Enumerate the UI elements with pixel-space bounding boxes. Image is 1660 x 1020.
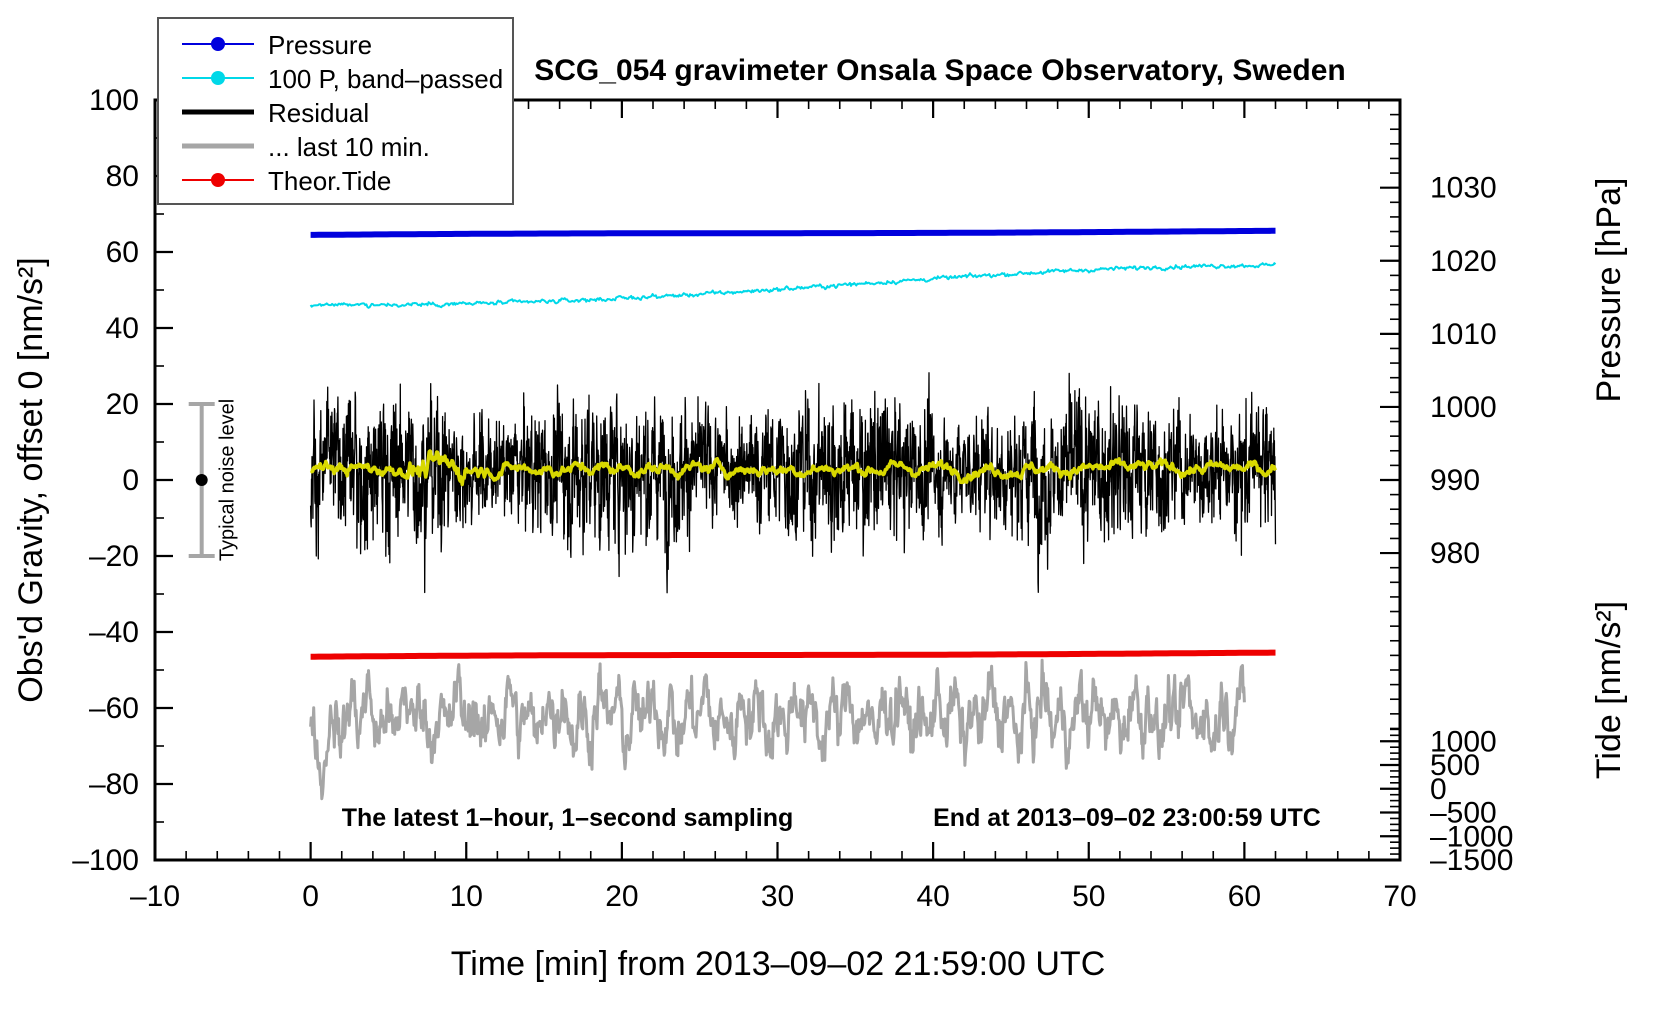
chart-page: –10010203040506070 100806040200–20–40–60… (0, 0, 1660, 1020)
pressure-tick-label: 980 (1430, 537, 1480, 570)
tide-tick-label: –1500 (1430, 844, 1513, 877)
end-time-note: End at 2013–09–02 23:00:59 UTC (933, 804, 1321, 832)
x-tick-label: 60 (1228, 880, 1261, 913)
gravimeter-chart: –10010203040506070 100806040200–20–40–60… (0, 0, 1660, 1020)
legend-label-pressure[interactable]: Pressure (268, 30, 372, 60)
pressure-tick-label: 990 (1430, 464, 1480, 497)
x-tick-label: 70 (1383, 880, 1416, 913)
pressure-tick-label: 1000 (1430, 391, 1497, 424)
pressure-tick-label: 1020 (1430, 245, 1497, 278)
x-tick-label: 50 (1072, 880, 1105, 913)
x-tick-label: –10 (130, 880, 180, 913)
y-tick-label-left: –20 (89, 540, 139, 573)
legend-label-residual[interactable]: Residual (268, 98, 369, 128)
legend-label-100-p-band-passed[interactable]: 100 P, band–passed (268, 64, 503, 94)
y-tick-label-left: 40 (106, 312, 139, 345)
y-tick-label-left: –100 (72, 844, 139, 877)
y-tick-label-left: 20 (106, 388, 139, 421)
x-tick-label: 30 (761, 880, 794, 913)
legend-label-last-10-min[interactable]: ... last 10 min. (268, 132, 430, 162)
y-axis-title-tide: Tide [nm/s²] (1590, 601, 1628, 779)
legend-marker-100-p-band-passed (211, 71, 225, 85)
pressure-tick-label: 1030 (1430, 172, 1497, 205)
chart-legend[interactable]: Pressure100 P, band–passedResidual... la… (158, 18, 513, 204)
legend-marker-pressure (211, 37, 225, 51)
x-tick-label: 10 (450, 880, 483, 913)
y-tick-label-left: –60 (89, 692, 139, 725)
x-tick-label: 40 (916, 880, 949, 913)
series-pressure (311, 231, 1276, 235)
y-tick-label-left: 60 (106, 236, 139, 269)
x-tick-label: 0 (302, 880, 319, 913)
y-axis-title-left: Obs'd Gravity, offset 0 [nm/s²] (12, 257, 50, 703)
x-tick-label: 20 (605, 880, 638, 913)
series-theor-tide (311, 653, 1276, 657)
legend-marker-theor-tide (211, 173, 225, 187)
y-tick-label-left: –40 (89, 616, 139, 649)
chart-title: SCG_054 gravimeter Onsala Space Observat… (534, 54, 1346, 87)
noise-level-label: Typical noise level (217, 399, 239, 561)
noise-bar-center-dot (196, 474, 208, 486)
y-tick-label-left: 0 (122, 464, 139, 497)
y-tick-label-left: –80 (89, 768, 139, 801)
sampling-note: The latest 1–hour, 1–second sampling (342, 804, 794, 832)
y-tick-label-left: 80 (106, 160, 139, 193)
legend-label-theor-tide[interactable]: Theor.Tide (268, 166, 391, 196)
y-tick-label-left: 100 (89, 84, 139, 117)
x-axis-title: Time [min] from 2013–09–02 21:59:00 UTC (451, 945, 1106, 983)
y-axis-title-pressure: Pressure [hPa] (1590, 178, 1628, 403)
pressure-tick-label: 1010 (1430, 318, 1497, 351)
